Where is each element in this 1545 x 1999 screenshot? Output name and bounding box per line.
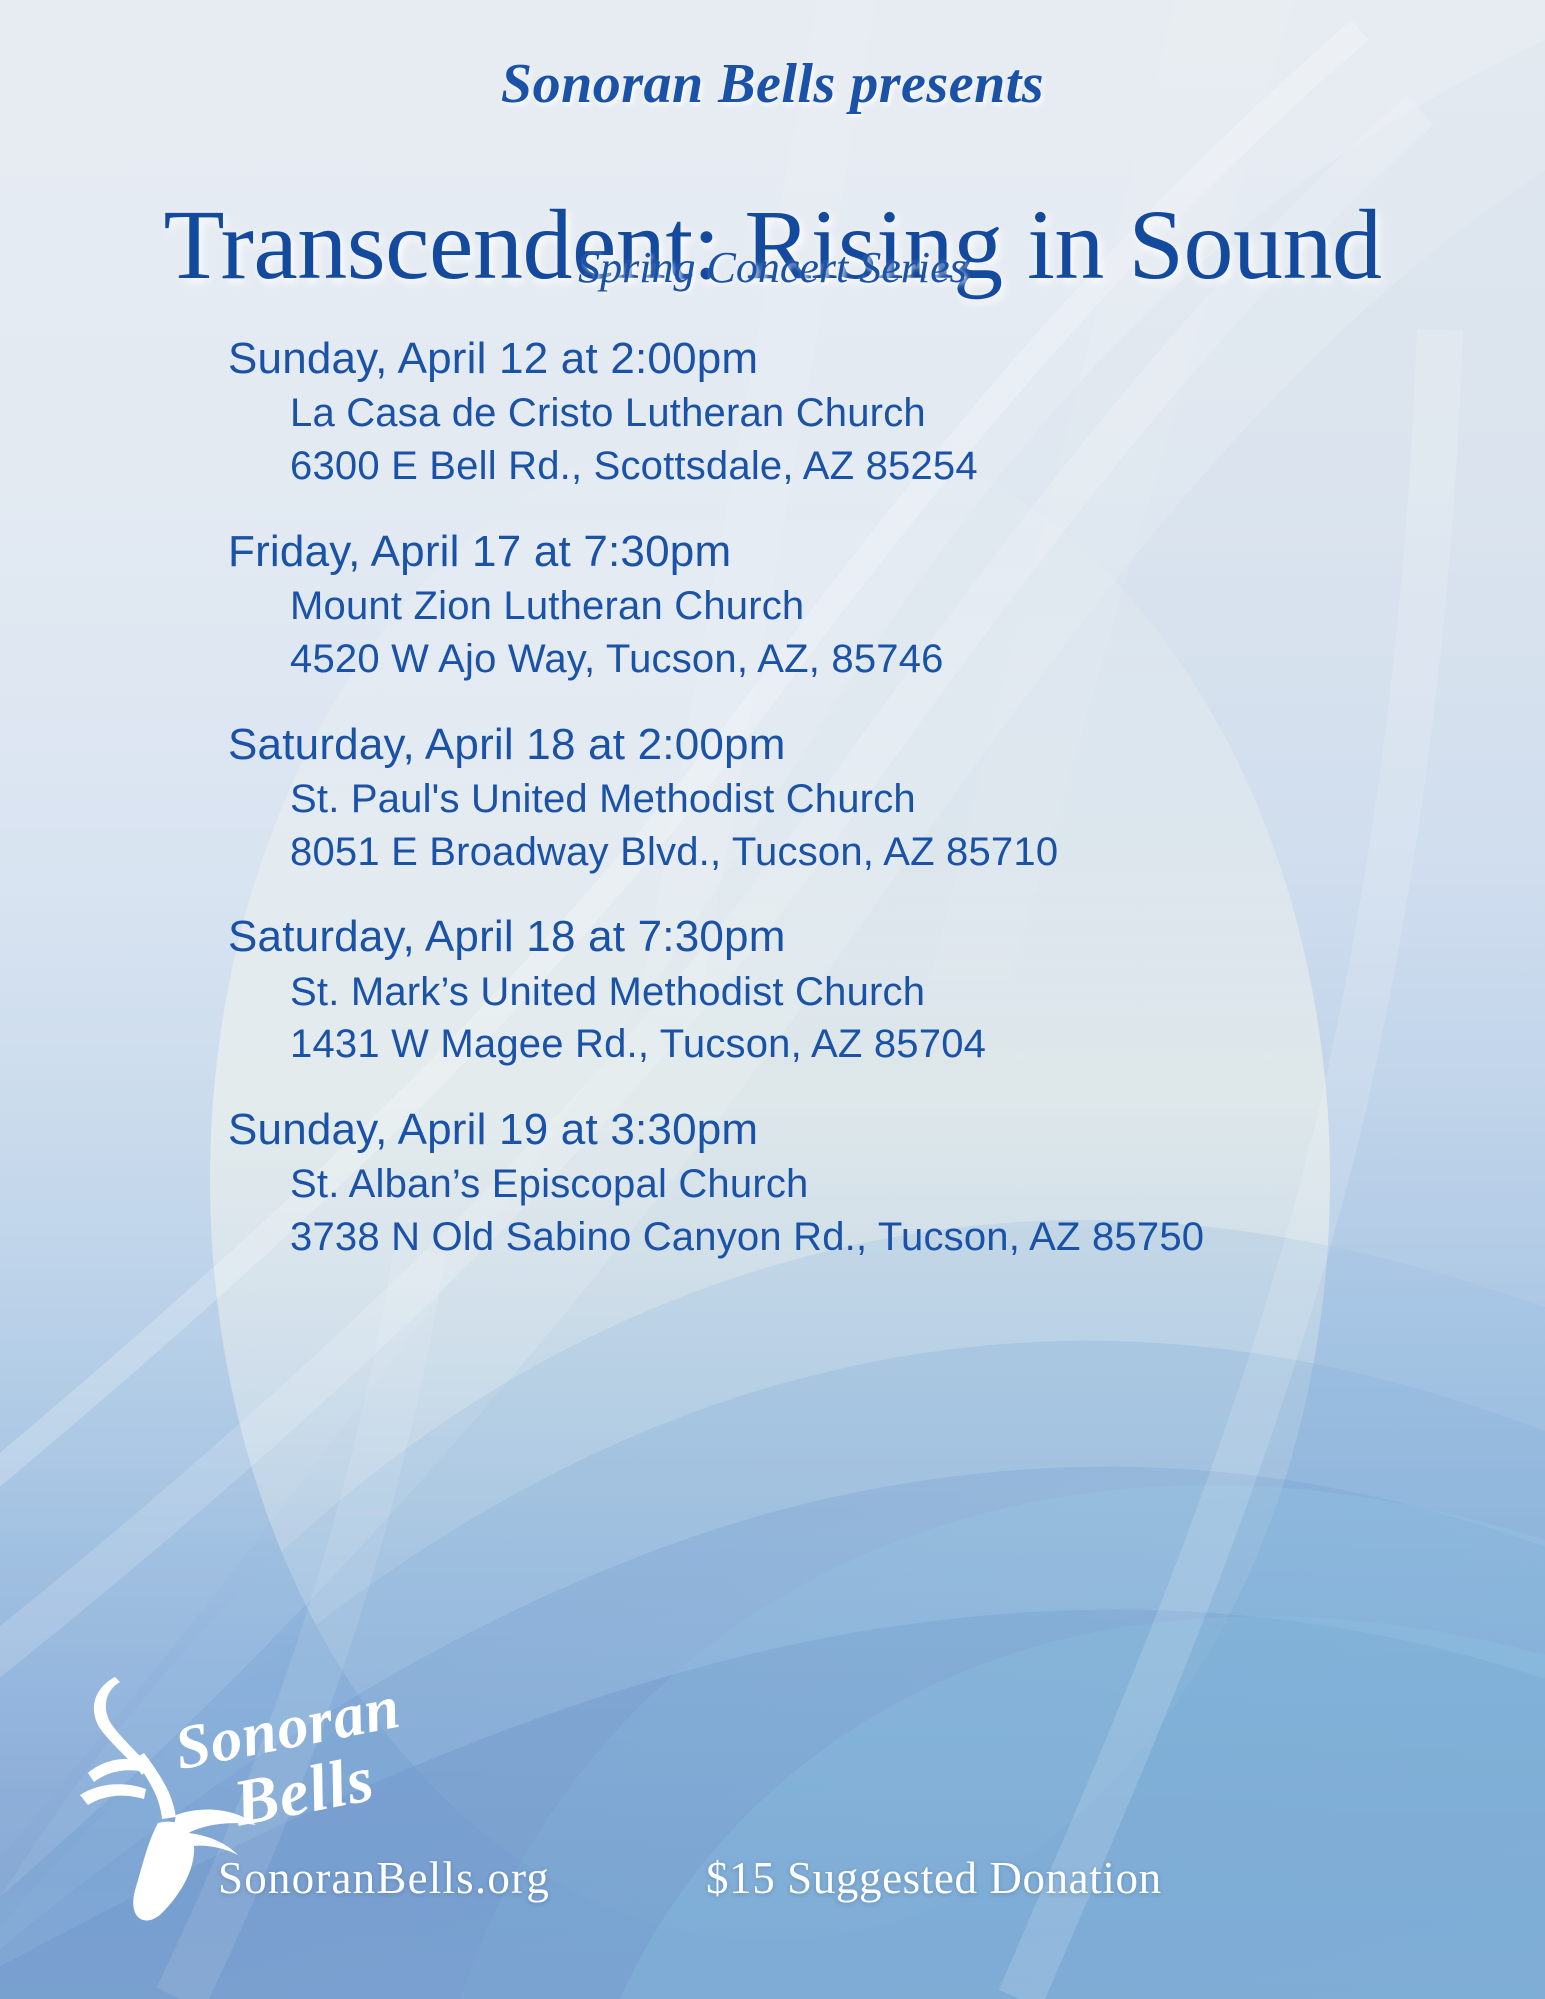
concert-poster: Sonoran Bells presents Transcendent: Ris… — [0, 0, 1545, 1999]
donation-note: $15 Suggested Donation — [706, 1852, 1162, 1904]
concert-venue: St. Alban’s Episcopal Church — [228, 1158, 1545, 1211]
concert-address: 1431 W Magee Rd., Tucson, AZ 85704 — [228, 1018, 1545, 1071]
concert-list: Sunday, April 12 at 2:00pm La Casa de Cr… — [0, 330, 1545, 1294]
concert-address: 4520 W Ajo Way, Tucson, AZ, 85746 — [228, 633, 1545, 686]
concert-datetime: Friday, April 17 at 7:30pm — [228, 523, 1545, 580]
concert-venue: Mount Zion Lutheran Church — [228, 580, 1545, 633]
concert-address: 3738 N Old Sabino Canyon Rd., Tucson, AZ… — [228, 1211, 1545, 1264]
website-link[interactable]: SonoranBells.org — [218, 1852, 550, 1904]
concert-datetime: Saturday, April 18 at 2:00pm — [228, 716, 1545, 773]
concert-venue: St. Paul's United Methodist Church — [228, 773, 1545, 826]
concert-datetime: Sunday, April 12 at 2:00pm — [228, 330, 1545, 387]
concert-address: 8051 E Broadway Blvd., Tucson, AZ 85710 — [228, 826, 1545, 879]
list-item: Saturday, April 18 at 7:30pm St. Mark’s … — [0, 908, 1545, 1071]
list-item: Saturday, April 18 at 2:00pm St. Paul's … — [0, 716, 1545, 879]
concert-datetime: Sunday, April 19 at 3:30pm — [228, 1101, 1545, 1158]
list-item: Sunday, April 19 at 3:30pm St. Alban’s E… — [0, 1101, 1545, 1264]
concert-venue: La Casa de Cristo Lutheran Church — [228, 387, 1545, 440]
presents-line: Sonoran Bells presents — [0, 52, 1545, 116]
concert-venue: St. Mark’s United Methodist Church — [228, 966, 1545, 1019]
concert-datetime: Saturday, April 18 at 7:30pm — [228, 908, 1545, 965]
concert-address: 6300 E Bell Rd., Scottsdale, AZ 85254 — [228, 440, 1545, 493]
list-item: Friday, April 17 at 7:30pm Mount Zion Lu… — [0, 523, 1545, 686]
subtitle: Spring Concert Series — [0, 242, 1545, 293]
list-item: Sunday, April 12 at 2:00pm La Casa de Cr… — [0, 330, 1545, 493]
